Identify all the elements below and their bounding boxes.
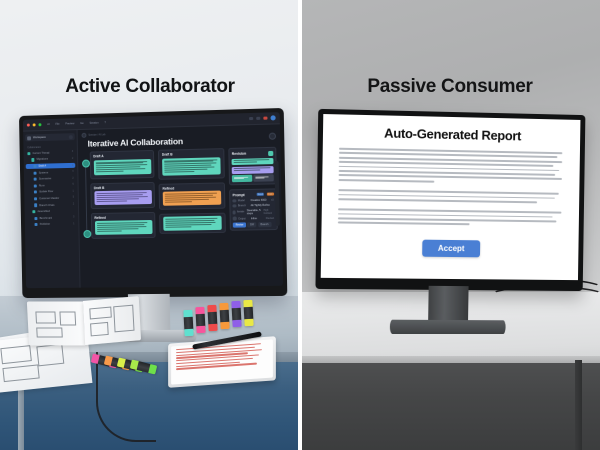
- card-label: Refined: [94, 215, 152, 220]
- sidebar-item-count: 2: [72, 177, 73, 179]
- sidebar-item-label: Publisher: [40, 223, 51, 226]
- sidebar-item-label: Draft A: [38, 165, 46, 168]
- flow-node-start[interactable]: [82, 160, 90, 168]
- sidebar-item-count: 2: [72, 158, 73, 160]
- revision-title: Revision: [232, 152, 246, 156]
- revision-panel[interactable]: Revision: [228, 147, 277, 186]
- settings-gear-icon[interactable]: [69, 135, 73, 139]
- sketchbook-left-page: [27, 301, 85, 345]
- prompt-row-key: Branch: [238, 204, 249, 207]
- flow-icon: [34, 191, 37, 194]
- prompt-row-model[interactable]: Model Creative 4000 v3: [233, 198, 274, 202]
- sidebar-item-migrations[interactable]: Migrations 2: [26, 156, 76, 163]
- prompt-row-branch[interactable]: Branch Alt Tightly Refine: [233, 203, 274, 207]
- panel-active-collaborator: Active Collaborator AI File Preview Go S…: [0, 0, 300, 450]
- revision-status-icon[interactable]: [268, 150, 273, 155]
- left-monitor: AI File Preview Go Session ?: [19, 108, 287, 298]
- publisher-icon: [35, 223, 38, 226]
- document-paragraph-1: [338, 148, 564, 187]
- left-monitor-bezel: AI File Preview Go Session ?: [19, 108, 287, 298]
- prompt-row-key: Output: [238, 217, 249, 220]
- marker-yellow: [243, 300, 253, 326]
- sidebar-item-count: 4: [72, 171, 73, 173]
- sidebar-item-count: 1: [72, 164, 73, 166]
- workspace-label: Workspace: [33, 136, 46, 139]
- left-monitor-screen: AI File Preview Go Session ?: [23, 112, 283, 288]
- panel-passive-consumer: Passive Consumer Auto-Generated Report: [300, 0, 600, 450]
- document-paragraph-3: [338, 209, 564, 230]
- sidebar-item-update-flow[interactable]: Update Flow 1: [26, 189, 76, 196]
- card-body: [93, 158, 151, 175]
- grid-icon[interactable]: [249, 117, 253, 121]
- sidebar-item-count: 3: [72, 151, 73, 153]
- menu-item-session[interactable]: Session: [89, 122, 98, 125]
- right-desk-leg: [575, 360, 582, 450]
- workspace-switcher[interactable]: Workspace: [25, 133, 75, 141]
- document-title: Auto-Generated Report: [384, 125, 521, 143]
- avatar[interactable]: [270, 115, 276, 121]
- sidebar-item-count: 1: [73, 223, 74, 225]
- badge-send[interactable]: Send: [256, 193, 264, 196]
- flow-column-b: Draft B: [158, 148, 225, 238]
- right-monitor-stand-neck: [428, 286, 468, 322]
- marker-orange: [219, 303, 229, 329]
- prompt-row-meta: Review: [266, 216, 274, 219]
- sidebar-item-label: Current Thread: [32, 152, 49, 155]
- flow-node-end[interactable]: [83, 230, 91, 238]
- menu-item-help[interactable]: ?: [104, 121, 105, 124]
- runs-icon: [34, 184, 37, 187]
- card-refined-left[interactable]: Refined: [91, 212, 156, 239]
- sidebar-item-label: Summaries: [39, 177, 52, 180]
- prompt-row-value: Alt Tightly Refine: [251, 204, 270, 207]
- prompt-row-meta: v3: [271, 199, 274, 202]
- prompt-title: Prompt: [232, 193, 244, 197]
- right-monitor-stand-base: [390, 320, 506, 335]
- branch-icon: [31, 158, 34, 161]
- prompt-header: Prompt Send Live: [232, 192, 273, 197]
- marker-pink: [195, 307, 205, 333]
- card-label: Draft A: [93, 153, 151, 158]
- chip-revision-summary[interactable]: [232, 175, 252, 182]
- card-body: [162, 157, 221, 176]
- app-body: Workspace Collaboration Current Thread 3: [23, 124, 283, 288]
- sidebar-item-label: Systems: [39, 171, 49, 174]
- summaries-icon: [34, 178, 37, 181]
- flow-column-c: Revision: [228, 147, 278, 237]
- flow-column-a: Draft A Draft B: [90, 150, 156, 239]
- card-body: [94, 220, 152, 235]
- menu-item-go[interactable]: Go: [80, 122, 83, 125]
- output-icon: [233, 217, 237, 221]
- menu-item-file[interactable]: File: [55, 123, 59, 126]
- sidebar-item-label: Update Flow: [39, 190, 53, 193]
- card-draft-a[interactable]: Draft A: [90, 150, 155, 179]
- sidebar-item-count: 6: [72, 184, 73, 186]
- page-title-left: Active Collaborator: [0, 76, 300, 98]
- chip-queued[interactable]: [253, 174, 273, 181]
- canvas-scrollbar[interactable]: [274, 161, 279, 226]
- split-divider: [298, 0, 302, 450]
- document-paragraph-2: [338, 189, 564, 206]
- sidebar-item-count: 1: [73, 190, 74, 192]
- marker-cyan: [183, 310, 193, 336]
- card-body: [163, 191, 222, 206]
- card-body: [94, 190, 152, 205]
- maximize-icon[interactable]: [38, 123, 41, 126]
- benchmark-icon: [34, 217, 37, 220]
- sidebar-item-count: 5: [73, 197, 74, 199]
- prompt-row-key: Iterate: [237, 211, 245, 214]
- accept-button[interactable]: Accept: [422, 239, 481, 257]
- sidebar-item-count: 3: [73, 217, 74, 219]
- sidebar-item-label: Customer Ideation: [39, 197, 60, 200]
- prompt-row-value: Steerable, 5 steps: [247, 209, 262, 215]
- right-floor: [300, 363, 600, 450]
- badge-live[interactable]: Live: [267, 193, 274, 196]
- ideation-icon: [34, 197, 37, 200]
- right-monitor: Auto-Generated Report: [315, 109, 585, 291]
- branch-button[interactable]: Branch: [258, 222, 271, 227]
- sidebar-item-benchmark[interactable]: Benchmark 3: [27, 215, 77, 222]
- sidebar-item-label: Benchmark: [39, 216, 52, 219]
- auto-generated-document: Auto-Generated Report: [321, 114, 581, 280]
- page-title-right: Passive Consumer: [300, 76, 600, 98]
- draft-icon: [33, 165, 36, 168]
- right-monitor-bezel: Auto-Generated Report: [315, 109, 585, 291]
- marker-purple: [231, 301, 241, 327]
- minimize-icon[interactable]: [33, 123, 36, 126]
- card-body: [163, 216, 222, 231]
- app-sidebar: Workspace Collaboration Current Thread 3: [23, 130, 80, 288]
- flow-columns: Draft A Draft B: [82, 147, 278, 239]
- prompt-row-output[interactable]: Output Inline Review: [233, 216, 274, 220]
- prompt-row-iterate[interactable]: Iterate Steerable, 5 steps High Context: [233, 209, 274, 216]
- sidebar-item-publisher[interactable]: Publisher 1: [27, 221, 77, 228]
- sidebar-item-label: Migrations: [36, 158, 48, 161]
- card-draft-b-purple[interactable]: Draft B: [90, 182, 155, 209]
- branch-icon: [233, 204, 237, 208]
- thread-icon: [27, 152, 30, 155]
- sidebar-item-branch-chats[interactable]: Branch Chats 2: [26, 202, 76, 209]
- prompt-row-value: Inline: [251, 217, 257, 220]
- systems-icon: [34, 171, 37, 174]
- menu-item-ai[interactable]: AI: [47, 123, 49, 126]
- menu-item-preview[interactable]: Preview: [65, 122, 74, 125]
- prompt-row-meta: High Context: [263, 209, 274, 215]
- right-monitor-screen: Auto-Generated Report: [321, 114, 581, 280]
- layers-icon[interactable]: [256, 117, 260, 121]
- back-arrow-icon[interactable]: [82, 133, 87, 138]
- prompt-row-key: Model: [238, 199, 249, 202]
- workspace-icon: [27, 136, 31, 140]
- breadcrumb-label: Session / AI Lab: [88, 133, 105, 136]
- card-output-teal[interactable]: [160, 212, 226, 234]
- titlebar-spacer: [109, 119, 246, 123]
- tablet-screen[interactable]: [171, 339, 273, 384]
- iterate-icon: [233, 210, 236, 214]
- sidebar-item-label: Branch Chats: [39, 203, 54, 206]
- card-refined-orange[interactable]: Refined: [159, 182, 225, 209]
- revision-bubble: [232, 166, 273, 174]
- revise-button[interactable]: Revise: [233, 222, 246, 227]
- prompt-actions: Revise Diff Branch: [233, 222, 274, 228]
- prompt-row-value: Creative 4000: [251, 199, 267, 202]
- diff-button[interactable]: Diff: [247, 222, 256, 227]
- revision-chips: [232, 174, 273, 182]
- model-icon: [233, 199, 237, 203]
- card-draft-b-teal[interactable]: Draft B: [158, 148, 224, 180]
- card-label: Draft B: [162, 151, 221, 156]
- record-icon[interactable]: [263, 116, 267, 120]
- sidebar-item-label: Assembled: [37, 210, 50, 213]
- close-icon[interactable]: [27, 124, 30, 127]
- sidebar-item-count: 2: [73, 204, 74, 206]
- open-sketchbook: [27, 297, 141, 347]
- sidebar-item-label: Runs: [39, 184, 45, 187]
- revision-header: Revision: [232, 150, 273, 156]
- revision-bubble: [232, 157, 273, 165]
- prompt-panel[interactable]: Prompt Send Live Model Creative 4000: [229, 188, 278, 231]
- chat-icon: [34, 204, 37, 207]
- sketchbook-right-page: [83, 296, 141, 345]
- card-label: Draft B: [94, 185, 152, 190]
- assembled-icon: [32, 210, 35, 213]
- card-label: Refined: [163, 185, 222, 190]
- collaboration-canvas[interactable]: Session / AI Lab Iterative AI Collaborat…: [78, 124, 283, 287]
- marker-red: [207, 305, 217, 331]
- sidebar-item-systems[interactable]: Systems 4: [26, 169, 76, 176]
